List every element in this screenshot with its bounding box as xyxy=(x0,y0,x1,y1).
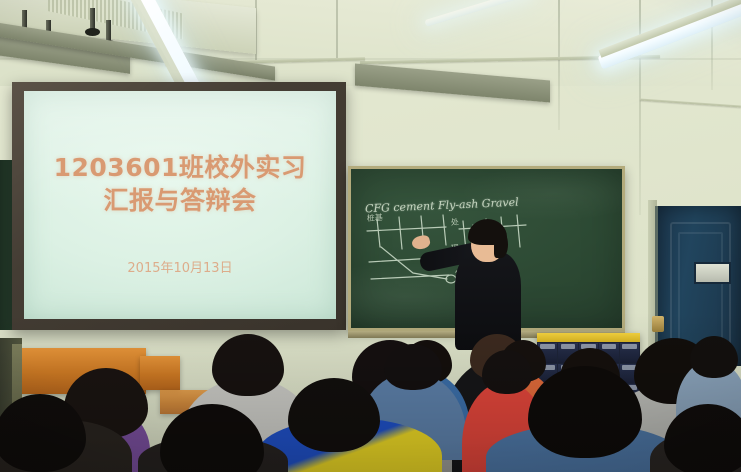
desk-left-2 xyxy=(140,356,180,390)
slide-date: 2015年10月13日 xyxy=(24,257,336,276)
head xyxy=(212,334,284,396)
door-panel-inner xyxy=(678,232,723,350)
projector-mount-bolt xyxy=(90,8,95,32)
pocket xyxy=(620,343,639,363)
wall-seam xyxy=(639,0,641,215)
ceiling-seam xyxy=(336,0,338,58)
wall-seam xyxy=(558,0,560,130)
door-handle[interactable] xyxy=(652,316,664,332)
projection-screen[interactable]: 1203601班校外实习 汇报与答辩会 2015年10月13日 xyxy=(24,91,336,319)
head xyxy=(690,336,738,378)
head xyxy=(384,344,442,390)
svg-text:处: 处 xyxy=(451,217,460,227)
svg-text:桩基: 桩基 xyxy=(366,212,383,223)
slide-title: 1203601班校外实习 汇报与答辩会 xyxy=(24,151,336,217)
presenter-hair-side xyxy=(494,230,508,258)
projection-screen-frame: 1203601班校外实习 汇报与答辩会 2015年10月13日 xyxy=(12,82,346,330)
slide-title-line-1: 1203601班校外实习 xyxy=(24,151,336,184)
slide-title-line-2: 汇报与答辩会 xyxy=(24,184,336,217)
door-window xyxy=(694,262,731,284)
pocket-chart-header xyxy=(537,333,640,342)
classroom-photo: 1203601班校外实习 汇报与答辩会 2015年10月13日 CFG ceme… xyxy=(0,0,741,472)
head xyxy=(482,350,532,394)
